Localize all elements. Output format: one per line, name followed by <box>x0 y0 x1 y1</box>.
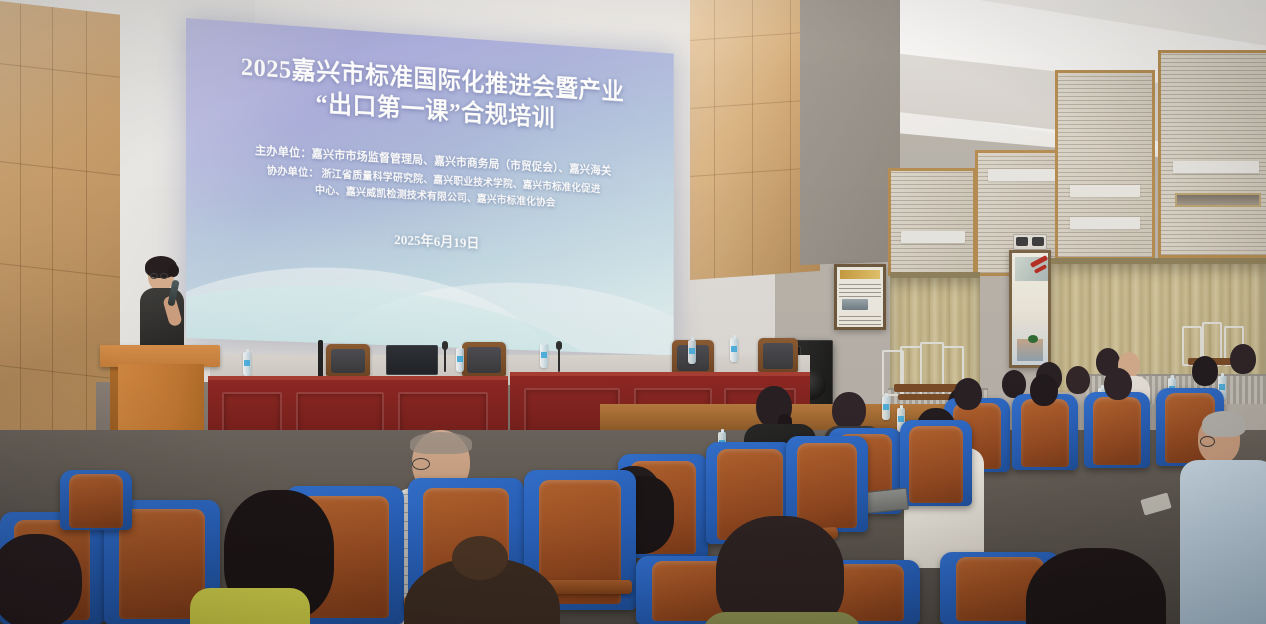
hair-bun <box>452 536 508 580</box>
framed-certificate-poster <box>834 264 886 330</box>
microphone-stand <box>318 340 323 378</box>
water-bottle <box>243 352 251 376</box>
acoustic-panel <box>1158 50 1266 258</box>
gooseneck-microphone <box>444 346 446 372</box>
acoustic-panel <box>1055 70 1155 260</box>
audience-member <box>1230 344 1256 374</box>
torso <box>190 588 310 624</box>
glasses-icon <box>1200 436 1215 447</box>
auditorium-seat[interactable] <box>1084 392 1150 468</box>
head-table-chair <box>462 342 506 376</box>
torso <box>1180 460 1266 624</box>
acoustic-panel <box>888 168 976 276</box>
water-bottle <box>540 344 548 368</box>
emergency-light-icon <box>1013 234 1047 250</box>
conference-photo-scene: 2025嘉兴市标准国际化推进会暨产业 “出口第一课”合规培训 主办单位：嘉兴市市… <box>0 0 1266 624</box>
gooseneck-microphone <box>558 346 560 372</box>
presenter-glasses-icon <box>150 273 158 279</box>
presenter-glasses-icon <box>160 273 168 279</box>
auditorium-seat[interactable] <box>60 470 132 530</box>
projected-slide: 2025嘉兴市标准国际化推进会暨产业 “出口第一课”合规培训 主办单位：嘉兴市市… <box>186 18 674 355</box>
water-bottle <box>688 340 696 364</box>
audience-member <box>1192 356 1218 386</box>
water-bottle <box>882 396 890 420</box>
water-bottle <box>456 348 464 372</box>
torso <box>702 612 862 624</box>
hair <box>716 516 844 624</box>
audience-member <box>1104 368 1132 400</box>
vertical-scroll-poster <box>1009 250 1051 368</box>
audience-member <box>954 378 982 410</box>
water-bottle <box>730 338 738 362</box>
glasses-icon <box>412 458 430 470</box>
projection-screen: 2025嘉兴市标准国际化推进会暨产业 “出口第一课”合规培训 主办单位：嘉兴市市… <box>186 18 674 355</box>
grey-hair <box>1202 411 1246 437</box>
audience-member <box>1030 374 1058 406</box>
screen-glare <box>186 18 674 355</box>
audience-member <box>1066 366 1090 394</box>
presenter-hair-bun <box>168 264 179 277</box>
hair-fringe <box>410 432 472 454</box>
head-table-chair <box>758 338 798 372</box>
laptop <box>386 345 438 375</box>
hair <box>0 534 82 624</box>
head-table-chair <box>326 344 370 376</box>
auditorium-seat[interactable] <box>900 420 972 506</box>
wall-grey-column <box>800 0 900 265</box>
